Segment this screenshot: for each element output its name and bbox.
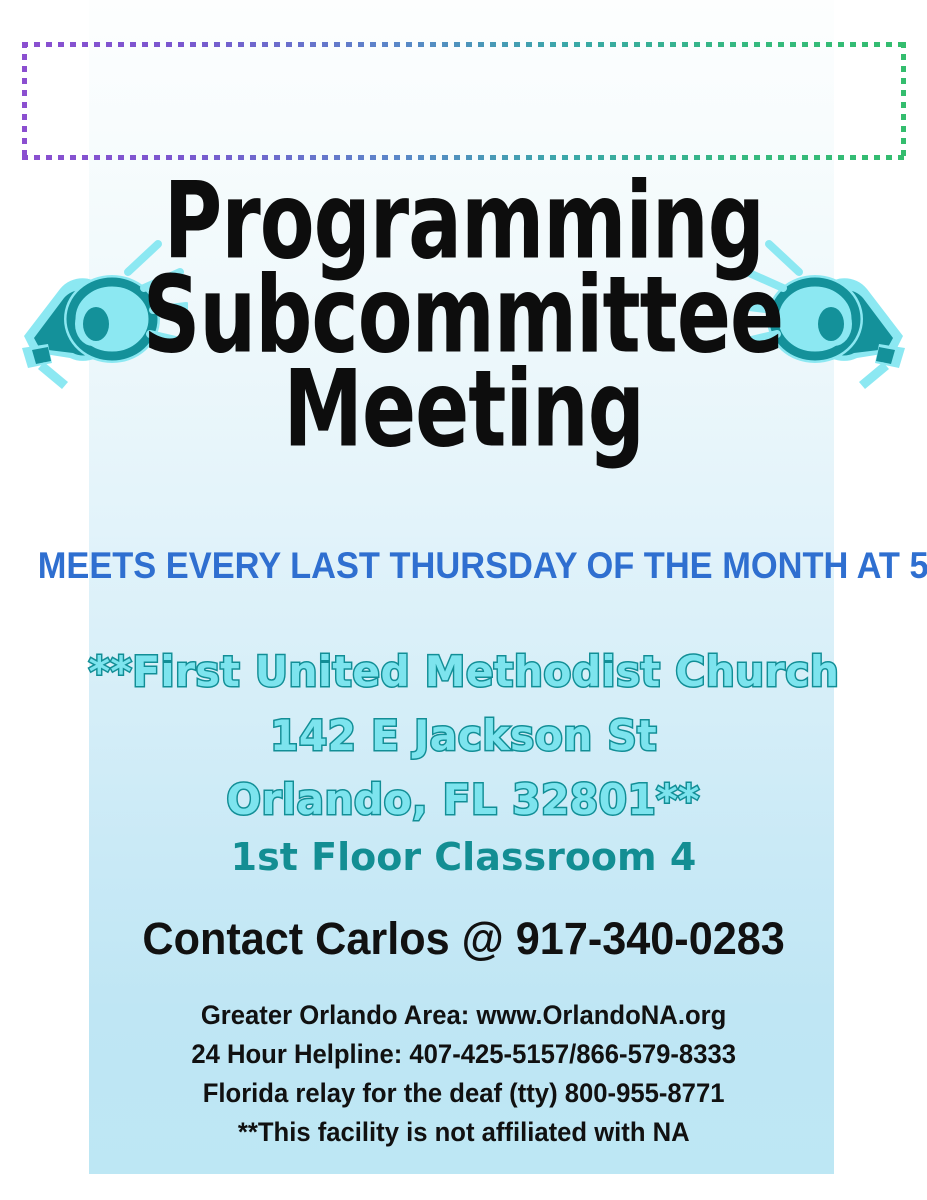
banner-title-text: CELEBRATION OF UNITY bbox=[59, 64, 901, 138]
venue-line-street: 142 E Jackson St bbox=[0, 704, 927, 768]
page-title: Programming Subcommittee Meeting bbox=[120, 186, 807, 468]
frame-top-edge bbox=[22, 42, 906, 47]
room-location: 1st Floor Classroom 4 bbox=[0, 834, 927, 880]
banner-title: CELEBRATION OF UNITY bbox=[22, 64, 906, 138]
schedule-value: MEETS EVERY LAST THURSDAY OF THE MONTH A… bbox=[38, 545, 927, 587]
flyer-canvas: CELEBRATION OF UNITY bbox=[0, 0, 927, 1200]
venue-line-church: **First United Methodist Church bbox=[0, 640, 927, 704]
banner-frame: CELEBRATION OF UNITY bbox=[22, 42, 906, 160]
venue-line-city: Orlando, FL 32801** bbox=[0, 768, 927, 832]
schedule-text: MEETS EVERY LAST THURSDAY OF THE MONTH A… bbox=[0, 545, 927, 587]
footer-block: Greater Orlando Area: www.OrlandoNA.org … bbox=[0, 996, 927, 1152]
footer-line-relay: Florida relay for the deaf (tty) 800-955… bbox=[0, 1074, 927, 1113]
headline-line-3: Meeting bbox=[120, 374, 807, 468]
footer-line-helpline: 24 Hour Helpline: 407-425-5157/866-579-8… bbox=[0, 1035, 927, 1074]
contact-value: Contact Carlos @ 917-340-0283 bbox=[142, 913, 784, 965]
footer-line-disclaimer: **This facility is not affiliated with N… bbox=[0, 1113, 927, 1152]
contact-info: Contact Carlos @ 917-340-0283 bbox=[0, 913, 927, 965]
venue-address: **First United Methodist Church 142 E Ja… bbox=[0, 640, 927, 832]
footer-line-website: Greater Orlando Area: www.OrlandoNA.org bbox=[0, 996, 927, 1035]
